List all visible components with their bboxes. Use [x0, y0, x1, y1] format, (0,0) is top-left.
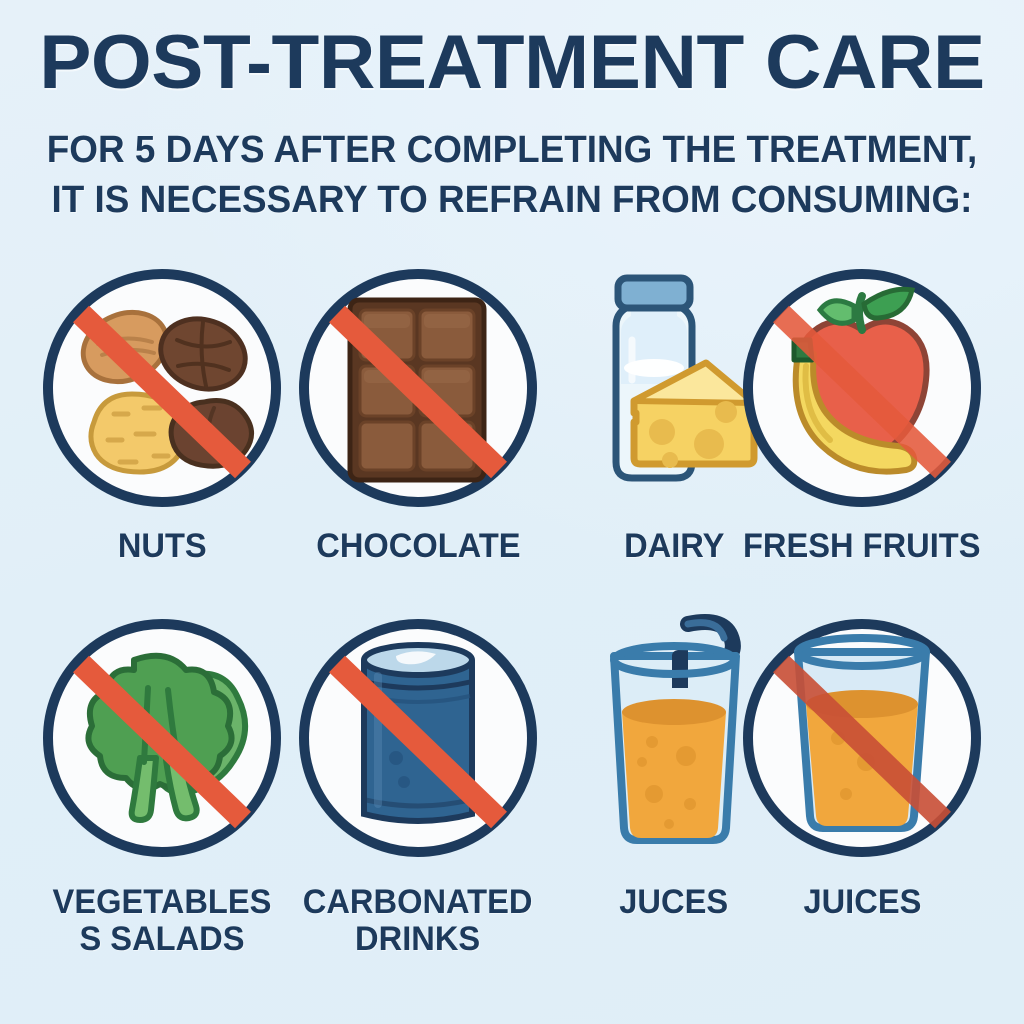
- item-juices[interactable]: JUICES: [734, 612, 990, 962]
- subtitle-line-2: IT IS NECESSARY TO REFRAIN FROM CONSUMIN…: [15, 176, 1008, 225]
- chocolate-artwork: [292, 262, 544, 514]
- items-row-1: NUTS: [0, 262, 1024, 612]
- item-chocolate[interactable]: CHOCOLATE: [290, 262, 546, 612]
- juice-glass-straw-icon: [614, 622, 736, 840]
- item-vegetables-salads[interactable]: VEGETABLES S SALADS: [34, 612, 290, 962]
- infographic-poster: POST-TREATMENT CARE FOR 5 DAYS AFTER COM…: [0, 0, 1024, 1024]
- nuts-artwork: [36, 262, 288, 514]
- item-fresh-fruits[interactable]: FRESH FRUITS: [734, 262, 990, 612]
- item-label: JUCES: [620, 884, 729, 921]
- item-label: CHOCOLATE: [316, 528, 520, 565]
- item-label: FRESH FRUITS: [743, 528, 981, 565]
- item-label: CARBONATED DRINKS: [303, 884, 533, 957]
- item-label: DAIRY: [624, 528, 724, 565]
- item-label: VEGETABLES S SALADS: [53, 884, 272, 957]
- item-label: NUTS: [118, 528, 207, 565]
- juices-artwork: [736, 612, 988, 864]
- forbidden-items-grid: NUTS: [0, 262, 1024, 962]
- subtitle-line-1: FOR 5 DAYS AFTER COMPLETING THE TREATMEN…: [15, 126, 1008, 175]
- carbonated-drinks-artwork: [292, 612, 544, 864]
- poster-header: POST-TREATMENT CARE FOR 5 DAYS AFTER COM…: [0, 0, 1024, 225]
- vegetables-artwork: [36, 612, 288, 864]
- poster-subtitle: FOR 5 DAYS AFTER COMPLETING THE TREATMEN…: [15, 126, 1008, 225]
- page-title: POST-TREATMENT CARE: [0, 26, 1024, 100]
- fresh-fruits-artwork: [736, 262, 988, 514]
- items-row-2: VEGETABLES S SALADS: [0, 612, 1024, 962]
- item-label: JUICES: [803, 884, 921, 921]
- item-carbonated-drinks[interactable]: CARBONATED DRINKS: [290, 612, 546, 962]
- item-nuts[interactable]: NUTS: [34, 262, 290, 612]
